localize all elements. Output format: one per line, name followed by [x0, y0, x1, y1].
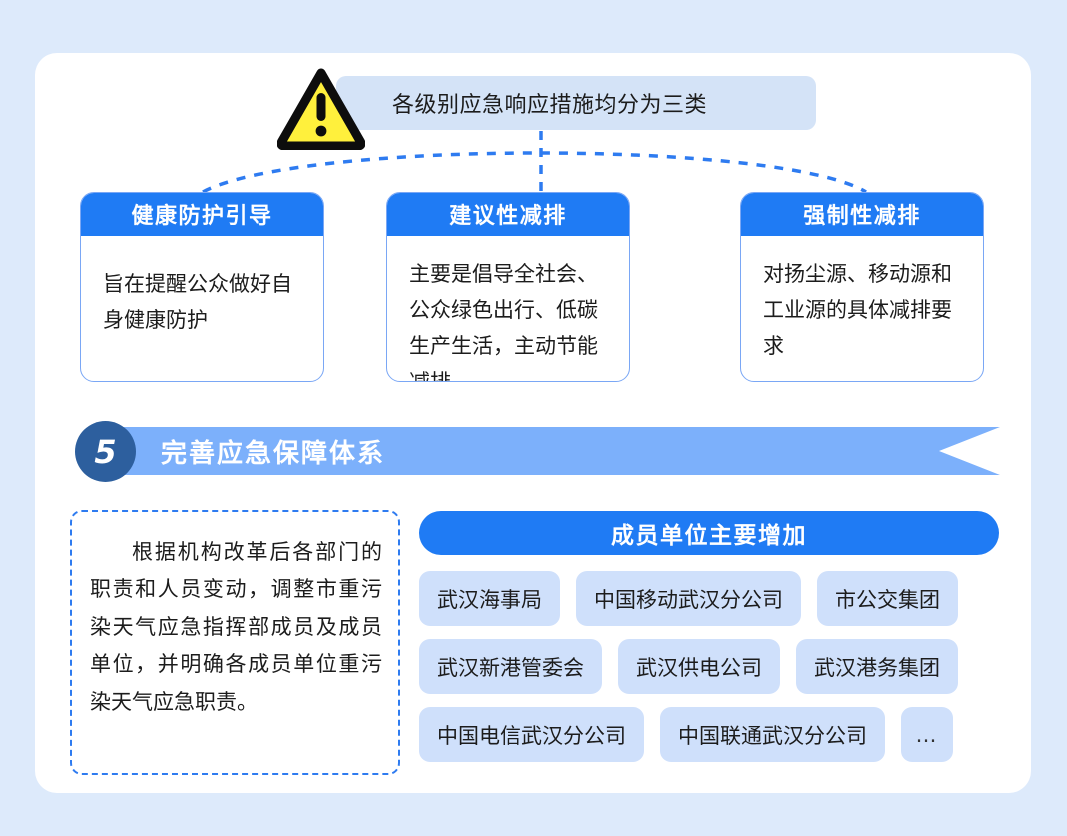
section-number-badge: 5 — [75, 421, 136, 482]
member-unit-tag: 武汉新港管委会 — [419, 639, 602, 694]
measure-card-body: 旨在提醒公众做好自身健康防护 — [81, 236, 323, 338]
measure-card-header: 健康防护引导 — [80, 192, 324, 236]
member-unit-tag: 中国移动武汉分公司 — [576, 571, 801, 626]
member-unit-tag: 武汉海事局 — [419, 571, 560, 626]
measure-card-body: 对扬尘源、移动源和工业源的具体减排要求 — [741, 236, 983, 364]
member-units-row: 武汉海事局 中国移动武汉分公司 市公交集团 — [419, 571, 999, 626]
notice-text: 各级别应急响应措施均分为三类 — [392, 87, 707, 119]
infographic-page: 各级别应急响应措施均分为三类 健康防护引导 旨在提醒公众做好自身健康防护 建议性… — [0, 0, 1067, 836]
measure-card-health-protection: 健康防护引导 旨在提醒公众做好自身健康防护 — [80, 192, 324, 382]
section-title: 完善应急保障体系 — [161, 433, 385, 470]
measure-card-header: 建议性减排 — [386, 192, 630, 236]
member-unit-tag: 武汉港务集团 — [796, 639, 958, 694]
measure-card-title: 强制性减排 — [803, 198, 921, 230]
description-box: 根据机构改革后各部门的职责和人员变动，调整市重污染天气应急指挥部成员及成员单位，… — [70, 510, 400, 775]
measure-card-body: 主要是倡导全社会、公众绿色出行、低碳生产生活，主动节能减排 — [387, 236, 629, 382]
description-paragraph: 根据机构改革后各部门的职责和人员变动，调整市重污染天气应急指挥部成员及成员单位，… — [90, 534, 382, 721]
member-unit-tag: 中国电信武汉分公司 — [419, 707, 644, 762]
member-units-header: 成员单位主要增加 — [419, 511, 999, 555]
member-unit-tag: 武汉供电公司 — [618, 639, 780, 694]
member-units-row: 中国电信武汉分公司 中国联通武汉分公司 … — [419, 707, 999, 762]
member-units-row: 武汉新港管委会 武汉供电公司 武汉港务集团 — [419, 639, 999, 694]
member-unit-tag: 市公交集团 — [817, 571, 958, 626]
measure-card-title: 建议性减排 — [449, 198, 567, 230]
measure-card-title: 健康防护引导 — [131, 198, 272, 230]
member-unit-more-indicator: … — [901, 707, 953, 762]
measure-card-advisory-reduction: 建议性减排 主要是倡导全社会、公众绿色出行、低碳生产生活，主动节能减排 — [386, 192, 630, 382]
warning-triangle-icon — [277, 66, 365, 150]
member-units-header-label: 成员单位主要增加 — [611, 516, 807, 550]
measure-card-mandatory-reduction: 强制性减排 对扬尘源、移动源和工业源的具体减排要求 — [740, 192, 984, 382]
member-units-list: 武汉海事局 中国移动武汉分公司 市公交集团 武汉新港管委会 武汉供电公司 武汉港… — [419, 571, 999, 775]
section-ribbon: 完善应急保障体系 — [103, 427, 1000, 475]
notice-banner: 各级别应急响应措施均分为三类 — [336, 76, 816, 130]
member-unit-tag: 中国联通武汉分公司 — [660, 707, 885, 762]
measure-card-header: 强制性减排 — [740, 192, 984, 236]
